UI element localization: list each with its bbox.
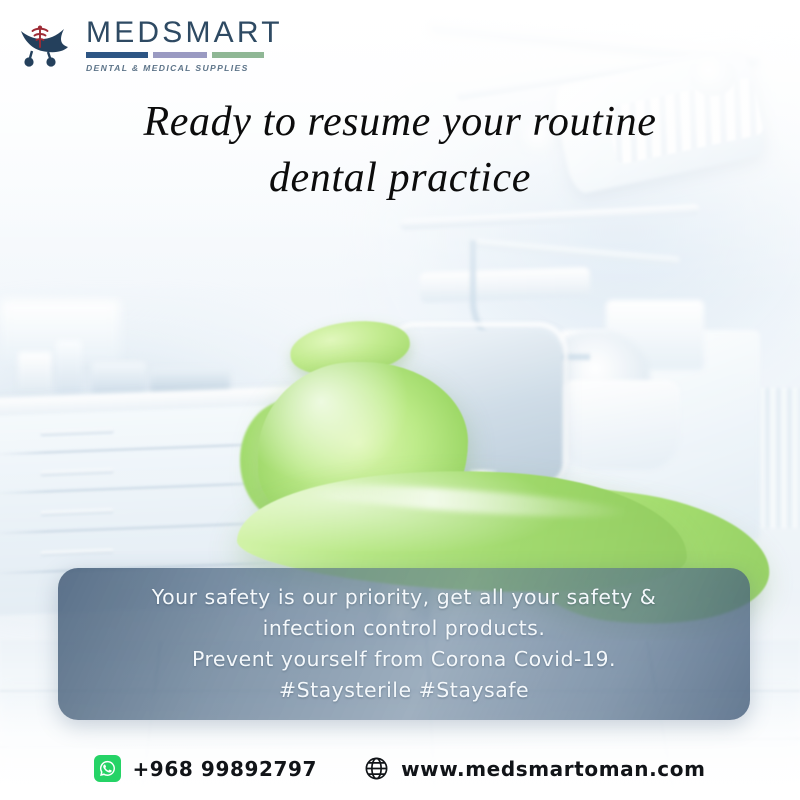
headline-line-1: Ready to resume your routine: [0, 94, 800, 150]
message-hashtags: #Staysterile #Staysafe: [74, 675, 734, 706]
message-panel: Your safety is our priority, get all you…: [58, 568, 750, 720]
logo-text-block: MEDSMART DENTAL & MEDICAL SUPPLIES: [86, 18, 283, 73]
message-line-1: Your safety is our priority, get all you…: [74, 582, 734, 613]
phone-contact[interactable]: +968 99892797: [94, 755, 317, 782]
globe-icon[interactable]: [363, 755, 390, 782]
brand-name: MEDSMART: [86, 18, 283, 48]
brand-tagline: DENTAL & MEDICAL SUPPLIES: [86, 63, 283, 73]
headline-line-2: dental practice: [0, 150, 800, 206]
brand-bar-navy: [86, 52, 148, 58]
brand-color-bars: [86, 52, 283, 58]
message-text: Your safety is our priority, get all you…: [58, 582, 750, 707]
phone-number[interactable]: +968 99892797: [132, 757, 317, 781]
website-contact[interactable]: www.medsmartoman.com: [363, 755, 705, 782]
brand-logo[interactable]: MEDSMART DENTAL & MEDICAL SUPPLIES: [18, 18, 283, 73]
headline: Ready to resume your routine dental prac…: [0, 94, 800, 207]
brand-bar-lavender: [153, 52, 207, 58]
poster-canvas: MEDSMART DENTAL & MEDICAL SUPPLIES Ready…: [0, 0, 800, 800]
whatsapp-icon[interactable]: [94, 755, 121, 782]
footer-contact-bar: +968 99892797 www.medsmartoman.com: [0, 755, 800, 782]
website-url[interactable]: www.medsmartoman.com: [401, 757, 705, 781]
message-line-2: infection control products.: [74, 613, 734, 644]
message-line-3: Prevent yourself from Corona Covid-19.: [74, 644, 734, 675]
medical-cart-caduceus-icon: [18, 20, 76, 72]
brand-bar-green: [212, 52, 264, 58]
